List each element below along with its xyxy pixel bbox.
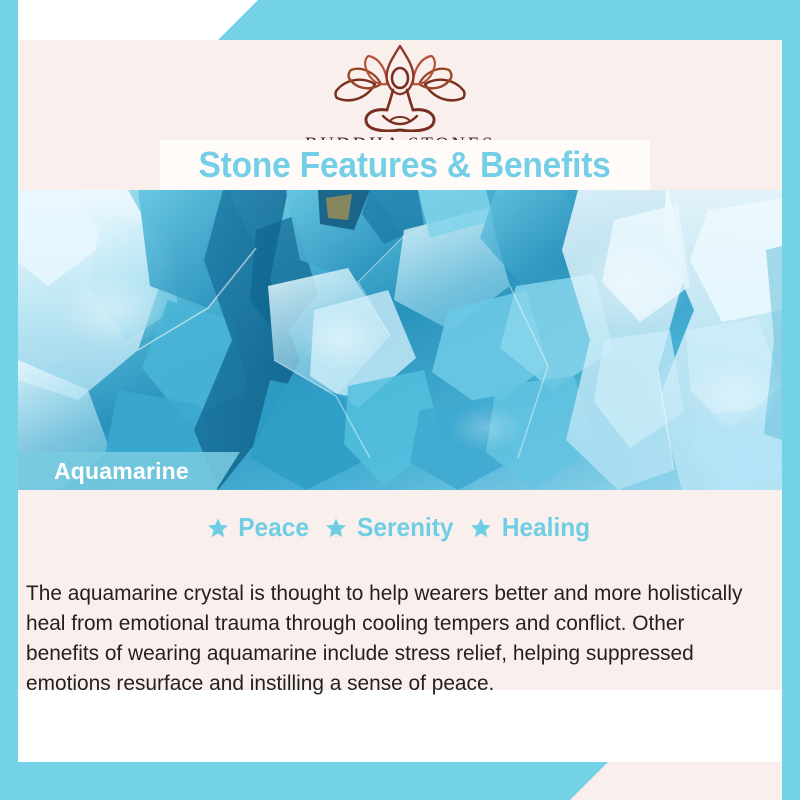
page-title: Stone Features & Benefits: [199, 144, 611, 186]
crystal-illustration: [18, 190, 782, 490]
star-icon: [470, 517, 492, 539]
right-accent-band: [782, 0, 800, 800]
title-banner: Stone Features & Benefits: [160, 140, 650, 190]
aquamarine-photo: [18, 190, 782, 490]
keyword-item: Peace: [207, 512, 311, 543]
top-accent-band: [218, 0, 800, 40]
keyword-label: Peace: [238, 512, 309, 543]
keyword-item: Healing: [470, 512, 593, 543]
bottom-accent-band: [0, 762, 608, 800]
left-accent-band: [0, 0, 18, 800]
benefits-paragraph: The aquamarine crystal is thought to hel…: [26, 578, 748, 698]
white-lower-background: [18, 690, 782, 762]
star-icon: [325, 517, 347, 539]
poster-root: Aquamarine: [0, 0, 800, 800]
keyword-item: Serenity: [325, 512, 457, 543]
keyword-row: Peace Serenity Healing: [18, 512, 782, 543]
stone-name-tag: Aquamarine: [18, 452, 240, 490]
keyword-label: Healing: [502, 512, 590, 543]
star-icon: [207, 517, 229, 539]
lotus-meditation-figure-icon: [325, 44, 475, 132]
stone-name-label: Aquamarine: [54, 458, 189, 485]
keyword-label: Serenity: [357, 512, 453, 543]
